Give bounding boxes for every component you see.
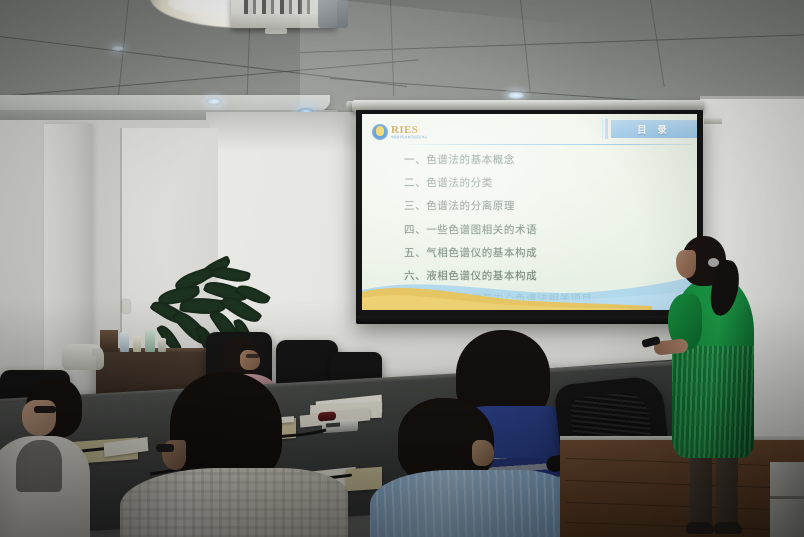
shoe (686, 522, 714, 534)
slide-section-tab: 目 录 (611, 120, 697, 138)
slide-tab-accent-thin (602, 119, 604, 139)
logo-subtitle-text: 中国科学院生态环境研究中心 (391, 137, 427, 140)
slide-list-item: 五、气相色谱仪的基本构成 (404, 245, 684, 260)
slide-list-item: 三、色谱法的分离原理 (404, 198, 684, 213)
face (240, 350, 260, 370)
picture-frame (100, 330, 118, 352)
screen-bottom-bar (356, 316, 703, 324)
presenter-woman (668, 236, 764, 536)
projector-mount (265, 28, 287, 34)
shirt-check-pattern (120, 468, 348, 537)
slide-list-item: 四、一些色谱图相关的术语 (404, 222, 684, 237)
slide-footer-wave (362, 268, 697, 310)
wall-edge (700, 96, 804, 99)
projector-ports (244, 0, 314, 14)
plastic-bag (62, 344, 104, 370)
logo-brand-text: RIES (391, 125, 427, 136)
wall-bracket (704, 118, 722, 124)
ear (472, 440, 494, 466)
shoe (714, 522, 742, 534)
slide-list-item: 二、色谱法的分类 (404, 175, 684, 190)
projector-lens (318, 0, 348, 28)
leg (716, 450, 738, 526)
leg (690, 450, 712, 526)
ceiling-downlight (206, 98, 222, 105)
attendee-man-white-checked-shirt (140, 372, 370, 537)
conference-room-photo: RIES 中国科学院生态环境研究中心 目 录 一、色谱法的基本概念 二、色谱法的… (0, 0, 804, 537)
slide-section-tab-label: 目 录 (637, 122, 671, 136)
dress-pleats (672, 346, 754, 458)
glasses-icon (34, 406, 56, 413)
side-cabinet (770, 462, 804, 537)
head (170, 372, 282, 482)
bottle (158, 338, 166, 352)
ceiling-downlight (508, 92, 524, 99)
bottle (120, 332, 129, 352)
side-cabinet-seam (770, 496, 804, 499)
door-handle[interactable] (122, 300, 130, 313)
glasses-icon (246, 354, 259, 358)
glasses-icon (156, 444, 174, 452)
shirt-stripes (370, 470, 572, 537)
projection-screen: RIES 中国科学院生态环境研究中心 目 录 一、色谱法的基本概念 二、色谱法的… (362, 114, 697, 310)
slide-tab-accent (605, 119, 608, 139)
attendee-woman-white-top (0, 378, 110, 537)
ries-logo-icon (372, 124, 388, 140)
face (676, 250, 696, 278)
bottle (145, 330, 155, 352)
top-trim (16, 440, 62, 492)
attendee-man-light-blue-shirt (352, 404, 572, 537)
ceiling-downlight (112, 46, 124, 51)
slide-logo: RIES 中国科学院生态环境研究中心 (372, 124, 427, 140)
slide-list-item: 一、色谱法的基本概念 (404, 152, 684, 167)
slide-divider-rule (408, 144, 692, 145)
bottle (133, 336, 141, 352)
